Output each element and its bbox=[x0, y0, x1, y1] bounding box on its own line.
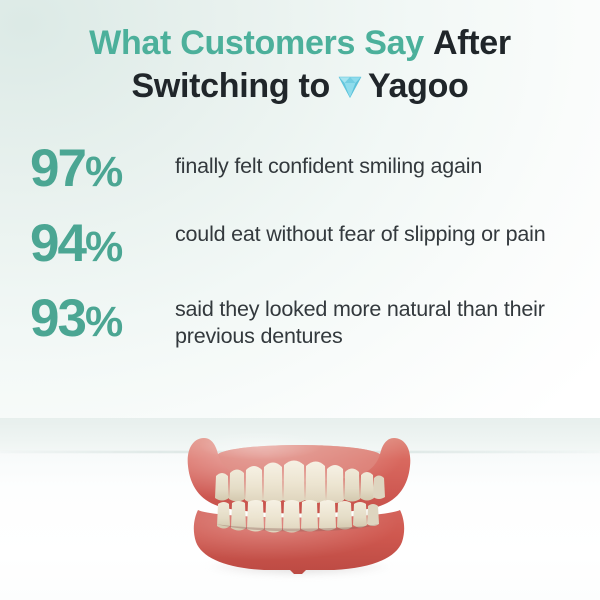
headline-line-2-prefix: Switching to bbox=[131, 67, 330, 105]
page-title: What Customers Say After Switching toYag… bbox=[0, 22, 600, 108]
list-item: 94% could eat without fear of slipping o… bbox=[0, 215, 600, 276]
product-photo bbox=[0, 418, 600, 600]
list-item: 93% said they looked more natural than t… bbox=[0, 290, 600, 351]
percent-symbol: % bbox=[85, 148, 122, 196]
headline-line-1: What Customers Say After bbox=[0, 22, 600, 65]
denture-image bbox=[172, 426, 426, 576]
stat-percentage: 97% bbox=[30, 140, 175, 201]
headline-highlight: What Customers Say bbox=[89, 24, 424, 62]
percent-symbol: % bbox=[85, 223, 122, 271]
diamond-gem-icon bbox=[335, 67, 365, 91]
stat-value: 97 bbox=[30, 139, 85, 198]
stats-list: 97% finally felt confident smiling again… bbox=[0, 140, 600, 365]
brand-name: Yagoo bbox=[368, 67, 469, 105]
stat-value: 93 bbox=[30, 289, 85, 348]
stat-percentage: 94% bbox=[30, 215, 175, 276]
stat-description: could eat without fear of slipping or pa… bbox=[175, 215, 574, 248]
stat-description: finally felt confident smiling again bbox=[175, 140, 574, 180]
promo-poster: What Customers Say After Switching toYag… bbox=[0, 0, 600, 600]
headline-line-1-suffix: After bbox=[433, 24, 511, 62]
list-item: 97% finally felt confident smiling again bbox=[0, 140, 600, 201]
stat-value: 94 bbox=[30, 214, 85, 273]
stat-percentage: 93% bbox=[30, 290, 175, 351]
stat-description: said they looked more natural than their… bbox=[175, 290, 574, 350]
headline-line-2: Switching toYagoo bbox=[0, 65, 600, 108]
percent-symbol: % bbox=[85, 298, 122, 346]
denture-illustration bbox=[172, 426, 426, 576]
